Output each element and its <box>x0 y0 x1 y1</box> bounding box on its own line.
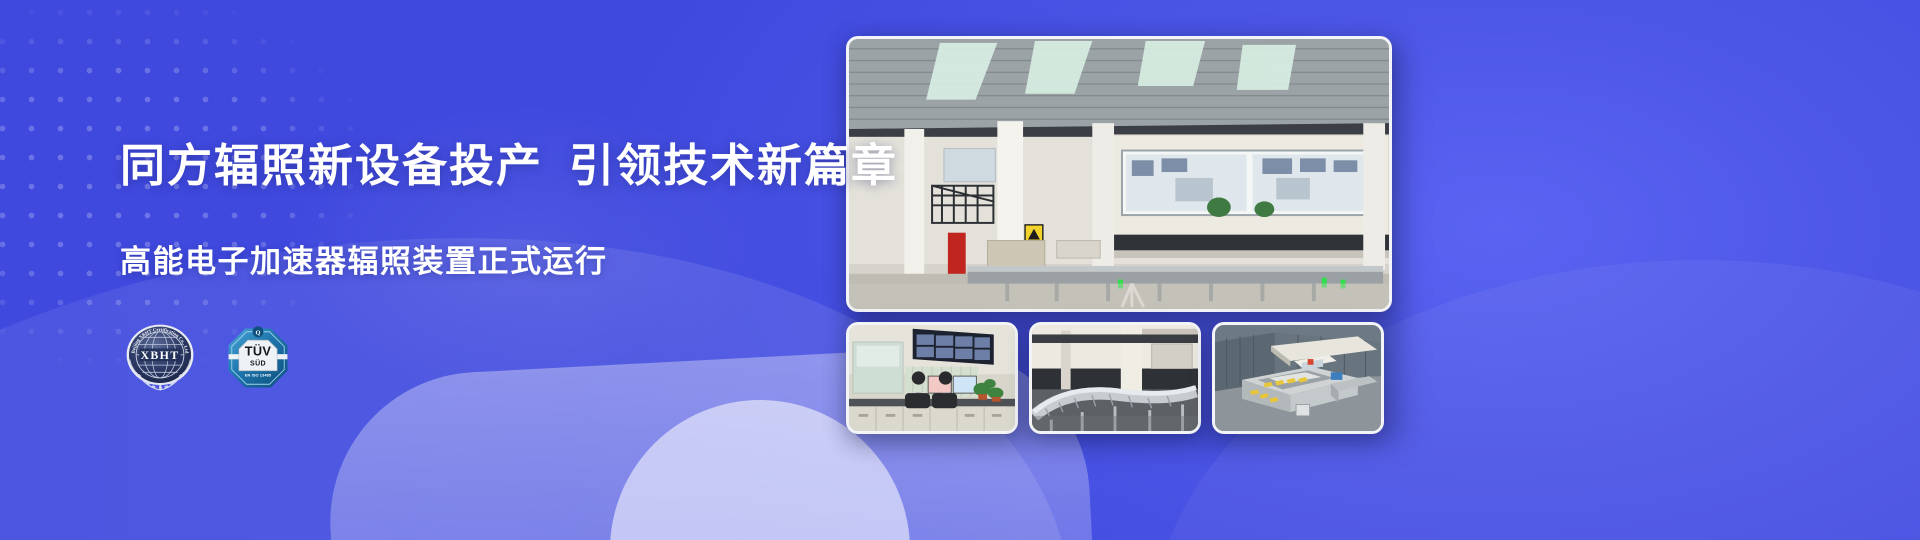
photo-collage <box>846 36 1392 434</box>
tuv-sud-mark-icon: Q TÜV SÜD EN ISO 13485 <box>226 326 290 390</box>
banner-headline: 同方辐照新设备投产引领技术新篇章 <box>120 140 880 192</box>
thumbnail-3d-rendering[interactable] <box>1212 322 1384 434</box>
banner-copy: 同方辐照新设备投产引领技术新篇章 高能电子加速器辐照装置正式运行 <box>120 140 880 393</box>
thumbnail-conveyor[interactable] <box>1029 322 1201 434</box>
facility-3d-rendering-image <box>1215 325 1381 431</box>
headline-segment-2: 引领技术新篇章 <box>569 140 898 191</box>
tuv-primary-text: TÜV <box>245 343 272 358</box>
xbht-certification-seal-icon: XBHT <box>120 323 200 393</box>
tuv-standard-text: EN ISO 13485 <box>245 373 272 377</box>
certification-badge-group: XBHT <box>120 323 880 393</box>
irradiation-hall-image <box>849 39 1389 309</box>
stainless-conveyor-image <box>1032 325 1198 431</box>
hero-photo[interactable] <box>846 36 1392 312</box>
tuv-quality-letter: Q <box>256 329 261 336</box>
headline-segment-1: 同方辐照新设备投产 <box>120 140 543 191</box>
banner-subheadline: 高能电子加速器辐照装置正式运行 <box>120 236 880 281</box>
promo-banner: 同方辐照新设备投产引领技术新篇章 高能电子加速器辐照装置正式运行 <box>0 0 1920 540</box>
svg-text:XBHT: XBHT <box>141 348 180 362</box>
